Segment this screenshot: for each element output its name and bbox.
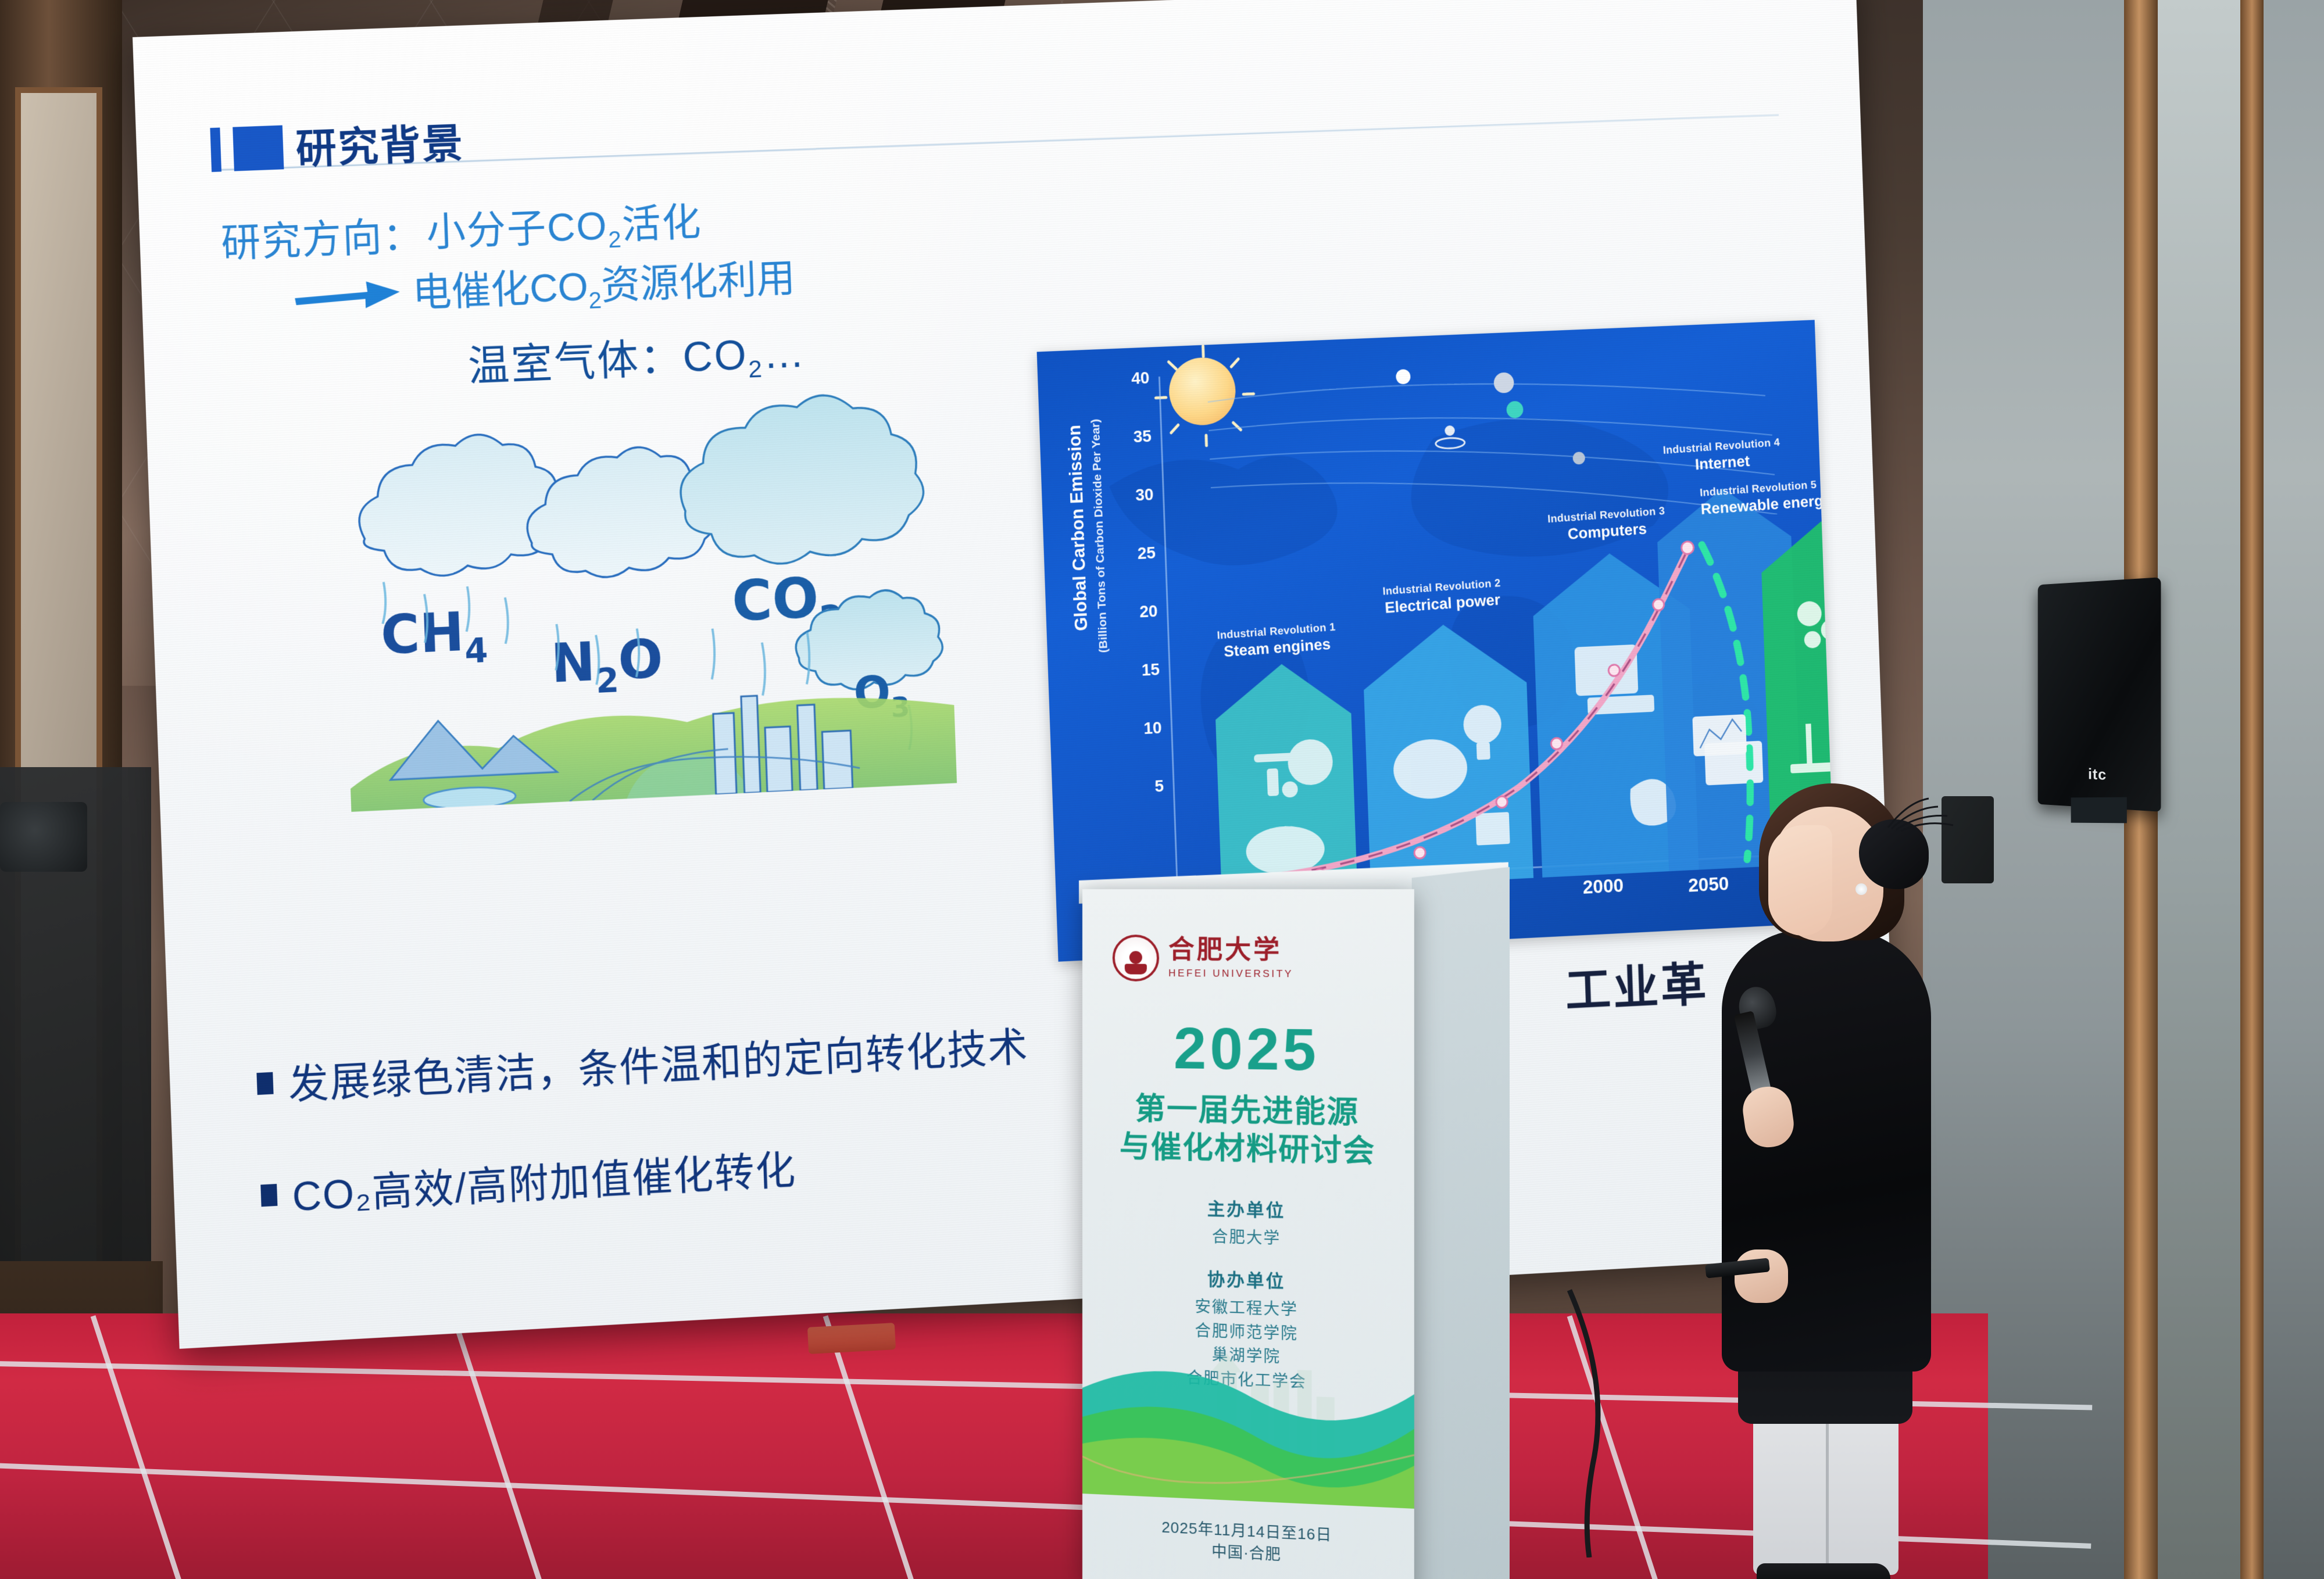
research-direction-line-1: 小分子CO2活化 <box>426 190 703 260</box>
carpet-seam-line <box>823 1315 943 1579</box>
floor-cable <box>1564 1284 1808 1557</box>
historical-emission-overlay <box>1214 547 1700 882</box>
projection-screen: 研究背景 研究方向： 小分子CO2活化 电催化CO2资源化利用 温室气体：CO2… <box>133 0 1900 1349</box>
bullet-square-icon <box>260 1184 277 1206</box>
gg-tail: … <box>763 330 807 377</box>
gas-label-n2o: N2O <box>550 628 664 703</box>
list-item: CO₂高效/高附加值催化转化 <box>260 1125 1034 1224</box>
page-title: 研究背景 <box>295 111 465 176</box>
carpet-seam-line <box>451 1315 571 1579</box>
speaker-mount-bracket <box>2071 797 2127 823</box>
presenter-earring <box>1855 883 1867 895</box>
bullet-list: 发展绿色清洁，条件温和的定向转化技术 CO₂高效/高附加值催化转化 <box>256 1015 1033 1224</box>
chart-caption-text: 工业革 <box>1564 946 1710 1021</box>
university-name-cn: 合肥大学 <box>1168 937 1293 964</box>
rd-line1-tail: 活化 <box>621 200 702 247</box>
conference-year: 2025 <box>1082 1014 1414 1086</box>
university-name-en: HEFEI UNIVERSITY <box>1168 968 1293 980</box>
greenhouse-gas-heading: 温室气体：CO2… <box>467 318 807 396</box>
host-value: 合肥大学 <box>1082 1222 1414 1254</box>
title-marker-bar-icon <box>210 127 221 171</box>
list-item: 发展绿色清洁，条件温和的定向转化技术 <box>256 1015 1029 1113</box>
speaker-brand-label: itc <box>2038 763 2161 786</box>
cloud-co2 <box>677 391 925 568</box>
university-logo-group: 合肥大学 HEFEI UNIVERSITY <box>1113 934 1293 982</box>
rd-line1-sub: 2 <box>608 225 623 253</box>
gas-label-ch4: CH4 <box>380 600 488 675</box>
historical-emission-line <box>1214 547 1700 882</box>
decorative-wave-graphic <box>1082 1319 1414 1509</box>
conference-title: 第一届先进能源 与催化材料研讨会 <box>1082 1090 1414 1172</box>
right-wood-column-2 <box>2240 0 2264 1579</box>
rd-line2-tail: 资源化利用 <box>600 256 796 308</box>
conference-title-line-1: 第一届先进能源 <box>1082 1090 1414 1133</box>
research-direction-block: 研究方向： 小分子CO2活化 电催化CO2资源化利用 <box>220 187 796 329</box>
wall-speaker: itc <box>2038 577 2161 812</box>
title-marker-box-icon <box>233 125 284 171</box>
rd-line1-text: 小分子CO <box>426 204 609 255</box>
hefei-university-seal-icon <box>1113 934 1159 982</box>
slide-title-group: 研究背景 <box>210 111 465 179</box>
host-section: 主办单位 合肥大学 <box>1082 1191 1414 1254</box>
university-name-block: 合肥大学 HEFEI UNIVERSITY <box>1168 937 1293 980</box>
landscape <box>348 687 957 812</box>
rd-line2-sub: 2 <box>588 286 602 313</box>
arrow-right-icon <box>292 271 403 316</box>
presenter-shoe <box>1757 1563 1890 1579</box>
left-equipment <box>0 802 87 872</box>
podium-side-panel <box>1412 867 1510 1579</box>
cloud-ch4 <box>356 431 564 579</box>
carpet-seam-line <box>91 1315 210 1579</box>
presenter-feather-ornament <box>1885 794 1954 835</box>
bullet-text: CO₂高效/高附加值催化转化 <box>291 1138 798 1223</box>
rolled-carpet-edge <box>807 1323 896 1354</box>
bullet-square-icon <box>256 1072 273 1094</box>
conference-title-line-2: 与催化材料研讨会 <box>1082 1127 1414 1172</box>
right-glass-panel <box>2158 0 2240 1579</box>
coorganizer-heading: 协办单位 <box>1082 1261 1414 1297</box>
podium-front-panel: 合肥大学 HEFEI UNIVERSITY 2025 第一届先进能源 与催化材料… <box>1082 889 1414 1579</box>
gg-label: 温室气体：CO <box>467 332 749 389</box>
rd-line2-text: 电催化CO <box>412 264 589 316</box>
gg-sub: 2 <box>748 355 764 384</box>
conference-date-location: 2025年11月14日至16日 中国·合肥 <box>1082 1513 1414 1573</box>
presenter-face <box>1768 825 1832 936</box>
historical-data-points <box>1303 541 1705 880</box>
conference-presentation-photo: itc 研究背景 研究方向： 小分子CO2活化 <box>0 0 2324 1579</box>
host-heading: 主办单位 <box>1082 1191 1414 1225</box>
research-direction-items: 小分子CO2活化 <box>426 190 703 260</box>
lectern-podium: 合肥大学 HEFEI UNIVERSITY 2025 第一届先进能源 与催化材料… <box>1082 889 1500 1579</box>
bullet-text: 发展绿色清洁，条件温和的定向转化技术 <box>287 1015 1029 1111</box>
greenhouse-gas-illustration: CH4 N2O CO2 <box>337 382 957 812</box>
research-direction-label: 研究方向： <box>220 203 424 268</box>
